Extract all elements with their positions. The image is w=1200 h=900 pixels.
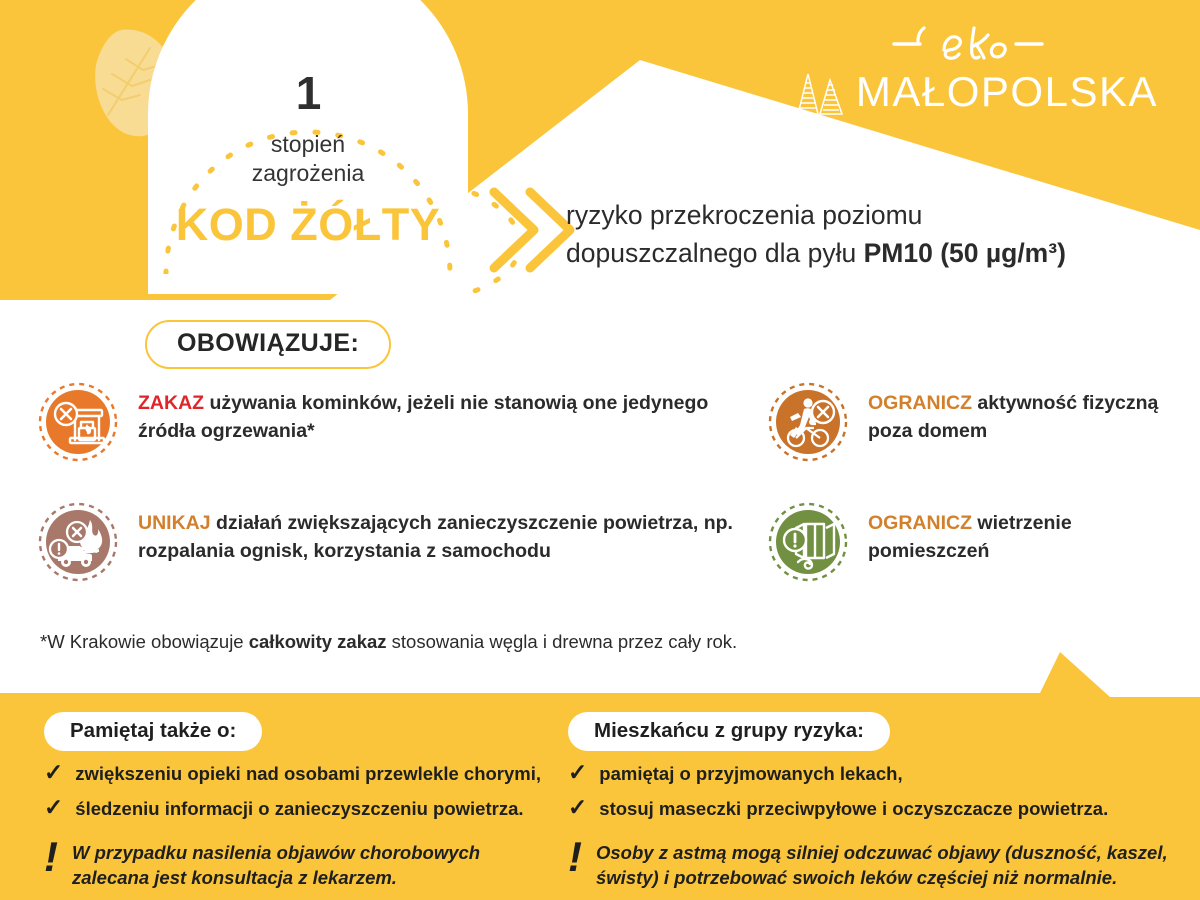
rule-text: OGRANICZ aktywność fizyczną poza domem	[868, 382, 1188, 445]
rule-text: ZAKAZ używania kominków, jeżeli nie stan…	[138, 382, 728, 445]
obowiazuje-badge: OBOWIĄZUJE:	[145, 320, 391, 369]
headline-line1: ryzyko przekroczenia poziomu	[566, 196, 1196, 234]
rule-body: używania kominków, jeżeli nie stanowią o…	[138, 392, 708, 442]
list-item: ✓ stosuj maseczki przeciwpyłowe i oczysz…	[568, 797, 1188, 821]
hero-subtitle-line2: zagrożenia	[148, 159, 468, 188]
no-bonfire-no-car-icon	[38, 502, 118, 582]
warning-note: ! Osoby z astmą mogą silniej odczuwać ob…	[568, 841, 1188, 891]
hero-code-label: KOD ŻÓŁTY	[148, 201, 468, 248]
check-icon: ✓	[568, 761, 587, 784]
list-item-label: pamiętaj o przyjmowanych lekach,	[599, 762, 902, 786]
panel-right-title: Mieszkańcu z grupy ryzyka:	[568, 712, 890, 751]
rule-item-no-fireplace: ZAKAZ używania kominków, jeżeli nie stan…	[38, 382, 728, 462]
rule-item-limit-airing: OGRANICZ wietrzenie pomieszczeń	[768, 502, 1188, 582]
rule-text: OGRANICZ wietrzenie pomieszczeń	[868, 502, 1188, 565]
headline-line2-plain: dopuszczalnego dla pyłu	[566, 238, 864, 268]
eko-script-icon	[794, 22, 1074, 66]
limit-window-airing-icon	[768, 502, 848, 582]
panel-risk-group: Mieszkańcu z grupy ryzyka: ✓ pamiętaj o …	[568, 712, 1188, 891]
footnote-bold: całkowity zakaz	[249, 631, 387, 652]
hero-subtitle-line1: stopień	[148, 130, 468, 159]
headline: ryzyko przekroczenia poziomu dopuszczaln…	[566, 196, 1196, 273]
malopolska-logo: MAŁOPOLSKA	[794, 22, 1158, 116]
footnote-post: stosowania węgla i drewna przez cały rok…	[387, 631, 738, 652]
malopolska-mountain-mark-icon	[794, 68, 846, 116]
check-icon: ✓	[44, 761, 63, 784]
warning-text: W przypadku nasilenia objawów chorobowyc…	[72, 841, 554, 891]
footnote: *W Krakowie obowiązuje całkowity zakaz s…	[40, 631, 737, 653]
footnote-pre: *W Krakowie obowiązuje	[40, 631, 249, 652]
hero-subtitle: stopień zagrożenia	[148, 130, 468, 189]
rule-item-avoid-bonfire-car: UNIKAJ działań zwiększających zanieczysz…	[38, 502, 758, 582]
hero-level-number: 1	[148, 70, 468, 116]
list-item: ✓ pamiętaj o przyjmowanych lekach,	[568, 762, 1188, 786]
list-item-label: śledzeniu informacji o zanieczyszczeniu …	[75, 797, 523, 821]
warning-note: ! W przypadku nasilenia objawów chorobow…	[44, 841, 554, 891]
infographic-root: 1 stopień zagrożenia KOD ŻÓŁTY ryzyko pr…	[0, 0, 1200, 900]
rule-keyword: ZAKAZ	[138, 392, 204, 414]
logo-main-row: MAŁOPOLSKA	[794, 68, 1158, 116]
rule-item-limit-outdoor-activity: OGRANICZ aktywność fizyczną poza domem	[768, 382, 1188, 462]
exclamation-icon: !	[568, 841, 582, 874]
check-icon: ✓	[44, 796, 63, 819]
exclamation-icon: !	[44, 841, 58, 874]
rule-text: UNIKAJ działań zwiększających zanieczysz…	[138, 502, 758, 565]
rule-keyword: OGRANICZ	[868, 392, 972, 414]
rule-body: działań zwiększających zanieczyszczenie …	[138, 512, 733, 562]
rule-keyword: UNIKAJ	[138, 512, 211, 534]
panel-left-title: Pamiętaj także o:	[44, 712, 262, 751]
list-item: ✓ zwiększeniu opieki nad osobami przewle…	[44, 762, 554, 786]
hero-text-block: 1 stopień zagrożenia KOD ŻÓŁTY	[148, 70, 468, 248]
list-item-label: stosuj maseczki przeciwpyłowe i oczyszcz…	[599, 797, 1108, 821]
rule-keyword: OGRANICZ	[868, 512, 972, 534]
check-icon: ✓	[568, 796, 587, 819]
headline-pm10-value: PM10 (50 µg/m³)	[864, 238, 1066, 268]
headline-line2: dopuszczalnego dla pyłu PM10 (50 µg/m³)	[566, 234, 1196, 272]
warning-text: Osoby z astmą mogą silniej odczuwać obja…	[596, 841, 1188, 891]
logo-wordmark: MAŁOPOLSKA	[856, 68, 1158, 116]
panel-remember: Pamiętaj także o: ✓ zwiększeniu opieki n…	[44, 712, 554, 891]
no-fireplace-icon	[38, 382, 118, 462]
list-item: ✓ śledzeniu informacji o zanieczyszczeni…	[44, 797, 554, 821]
no-outdoor-exercise-icon	[768, 382, 848, 462]
list-item-label: zwiększeniu opieki nad osobami przewlekl…	[75, 762, 541, 786]
